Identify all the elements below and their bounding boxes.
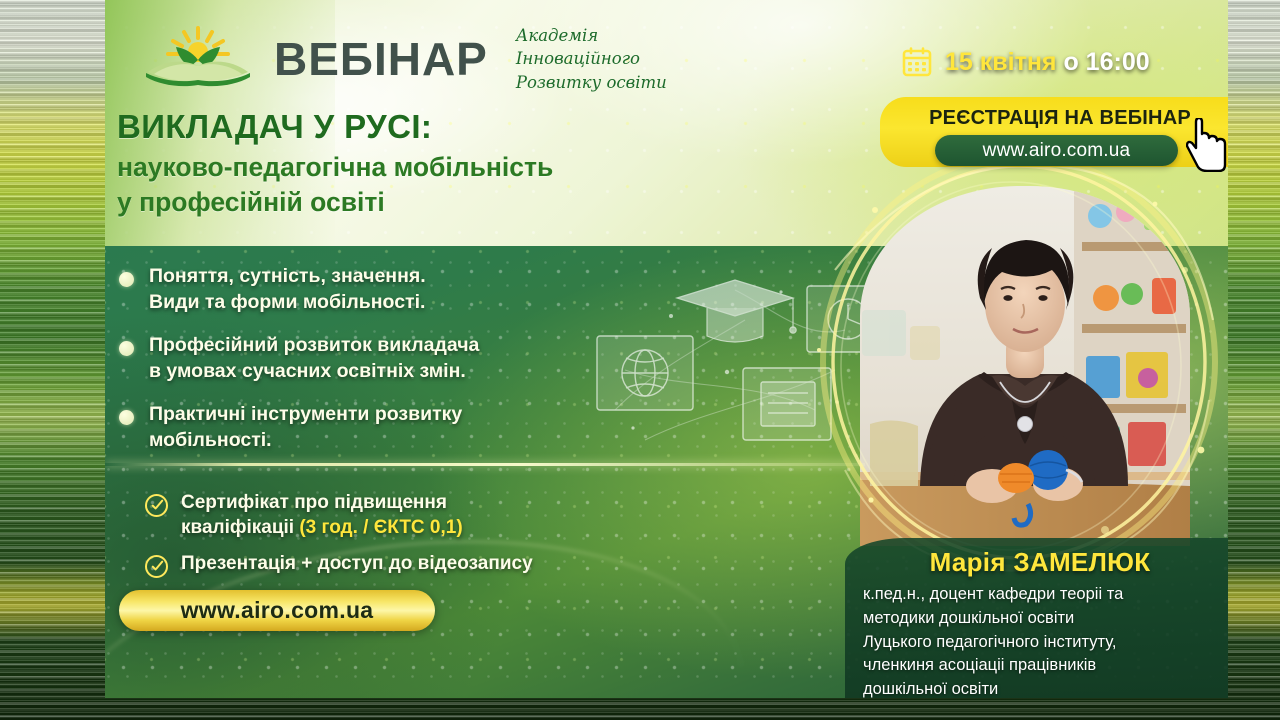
bullet-dot-icon xyxy=(119,410,134,425)
list-item-text: Поняття, сутність, значення. Види та фор… xyxy=(149,264,426,316)
benefits-list: Сертифікат про підвищення кваліфікаціі (… xyxy=(145,490,665,589)
pointing-hand-cursor-icon xyxy=(1186,118,1228,172)
academy-name: Академія Інноваційного Розвитку освіти xyxy=(516,24,667,94)
academy-line-3: Розвитку освіти xyxy=(516,73,667,92)
bio-line-2: методики дошкільної освіти xyxy=(863,609,1074,627)
section-divider xyxy=(105,463,865,466)
academy-line-2: Інноваційного xyxy=(516,49,640,68)
check-2-line-1: Презентація + доступ до відеозапису xyxy=(181,553,533,574)
graduation-cap-icon xyxy=(677,280,796,342)
list-item: Поняття, сутність, значення. Види та фор… xyxy=(119,264,639,316)
credits-badge: (3 год. / ЄКТС 0,1) xyxy=(299,517,462,538)
check-1-line-2-prefix: кваліфікаціі xyxy=(181,517,299,538)
subtitle-line-1: науково-педагогічна мобільність xyxy=(117,152,553,182)
bio-line-4: членкиня асоціаціі працівників xyxy=(863,656,1096,674)
speaker-bio: к.пед.н., доцент кафедри теоріі та метод… xyxy=(863,583,1193,698)
bullet-2-line-1: Професійний розвиток викладача xyxy=(149,334,479,356)
bio-line-5: дошкільної освіти xyxy=(863,680,998,698)
check-1-line-1: Сертифікат про підвищення xyxy=(181,492,447,513)
bullet-3-line-1: Практичні інструменти розвитку xyxy=(149,403,462,425)
page-subtitle: науково-педагогічна мобільність у профес… xyxy=(117,150,553,220)
registration-label: РЕЄСТРАЦІЯ НА ВЕБІНАР xyxy=(900,107,1220,130)
bullet-2-line-2: в умовах сучасних освітніх змін. xyxy=(149,360,466,382)
bullet-dot-icon xyxy=(119,341,134,356)
event-date: 15 квітня xyxy=(945,48,1057,76)
list-item: Презентація + доступ до відеозапису xyxy=(145,551,665,578)
calendar-icon xyxy=(902,47,932,77)
academy-line-1: Академія xyxy=(516,26,598,45)
registration-url-pill[interactable]: www.airo.com.ua xyxy=(935,135,1178,166)
check-circle-icon xyxy=(145,494,168,517)
list-item-text: Презентація + доступ до відеозапису xyxy=(181,551,533,578)
bullet-dot-icon xyxy=(119,272,134,287)
list-item: Практичні інструменти розвитку мобільнос… xyxy=(119,402,639,454)
document-list-icon xyxy=(743,368,831,440)
webinar-poster: ВЕБІНАР Академія Інноваційного Розвитку … xyxy=(105,0,1228,698)
poster-header: ВЕБІНАР Академія Інноваційного Розвитку … xyxy=(140,22,667,96)
brand-title: ВЕБІНАР xyxy=(274,32,488,86)
page-title: ВИКЛАДАЧ У РУСІ: xyxy=(117,108,432,146)
event-date-row: 15 квітня о 16:00 xyxy=(902,47,1150,77)
check-circle-icon xyxy=(145,555,168,578)
bullet-3-line-2: мобільності. xyxy=(149,429,272,451)
list-item-text: Сертифікат про підвищення кваліфікаціі (… xyxy=(181,490,463,540)
bio-line-3: Луцького педагогічного інституту, xyxy=(863,633,1116,651)
list-item: Сертифікат про підвищення кваліфікаціі (… xyxy=(145,490,665,540)
list-item-text: Професійний розвиток викладача в умовах … xyxy=(149,333,479,385)
list-item: Професійний розвиток викладача в умовах … xyxy=(119,333,639,385)
footer-website-text: www.airo.com.ua xyxy=(181,597,374,624)
list-item-text: Практичні інструменти розвитку мобільнос… xyxy=(149,402,462,454)
bullet-1-line-1: Поняття, сутність, значення. xyxy=(149,265,426,287)
topics-list: Поняття, сутність, значення. Види та фор… xyxy=(119,264,639,471)
footer-website-pill[interactable]: www.airo.com.ua xyxy=(119,590,435,631)
event-datetime: 15 квітня о 16:00 xyxy=(945,48,1150,77)
speaker-photo xyxy=(860,186,1190,546)
sun-over-open-book-logo-icon xyxy=(140,22,260,96)
subtitle-line-2: у професійній освіті xyxy=(117,187,385,217)
event-time: о 16:00 xyxy=(1063,48,1149,76)
registration-url-text: www.airo.com.ua xyxy=(983,140,1131,162)
bio-line-1: к.пед.н., доцент кафедри теоріі та xyxy=(863,585,1123,603)
speaker-name: Марія ЗАМЕЛЮК xyxy=(865,547,1215,578)
bullet-1-line-2: Види та форми мобільності. xyxy=(149,291,425,313)
